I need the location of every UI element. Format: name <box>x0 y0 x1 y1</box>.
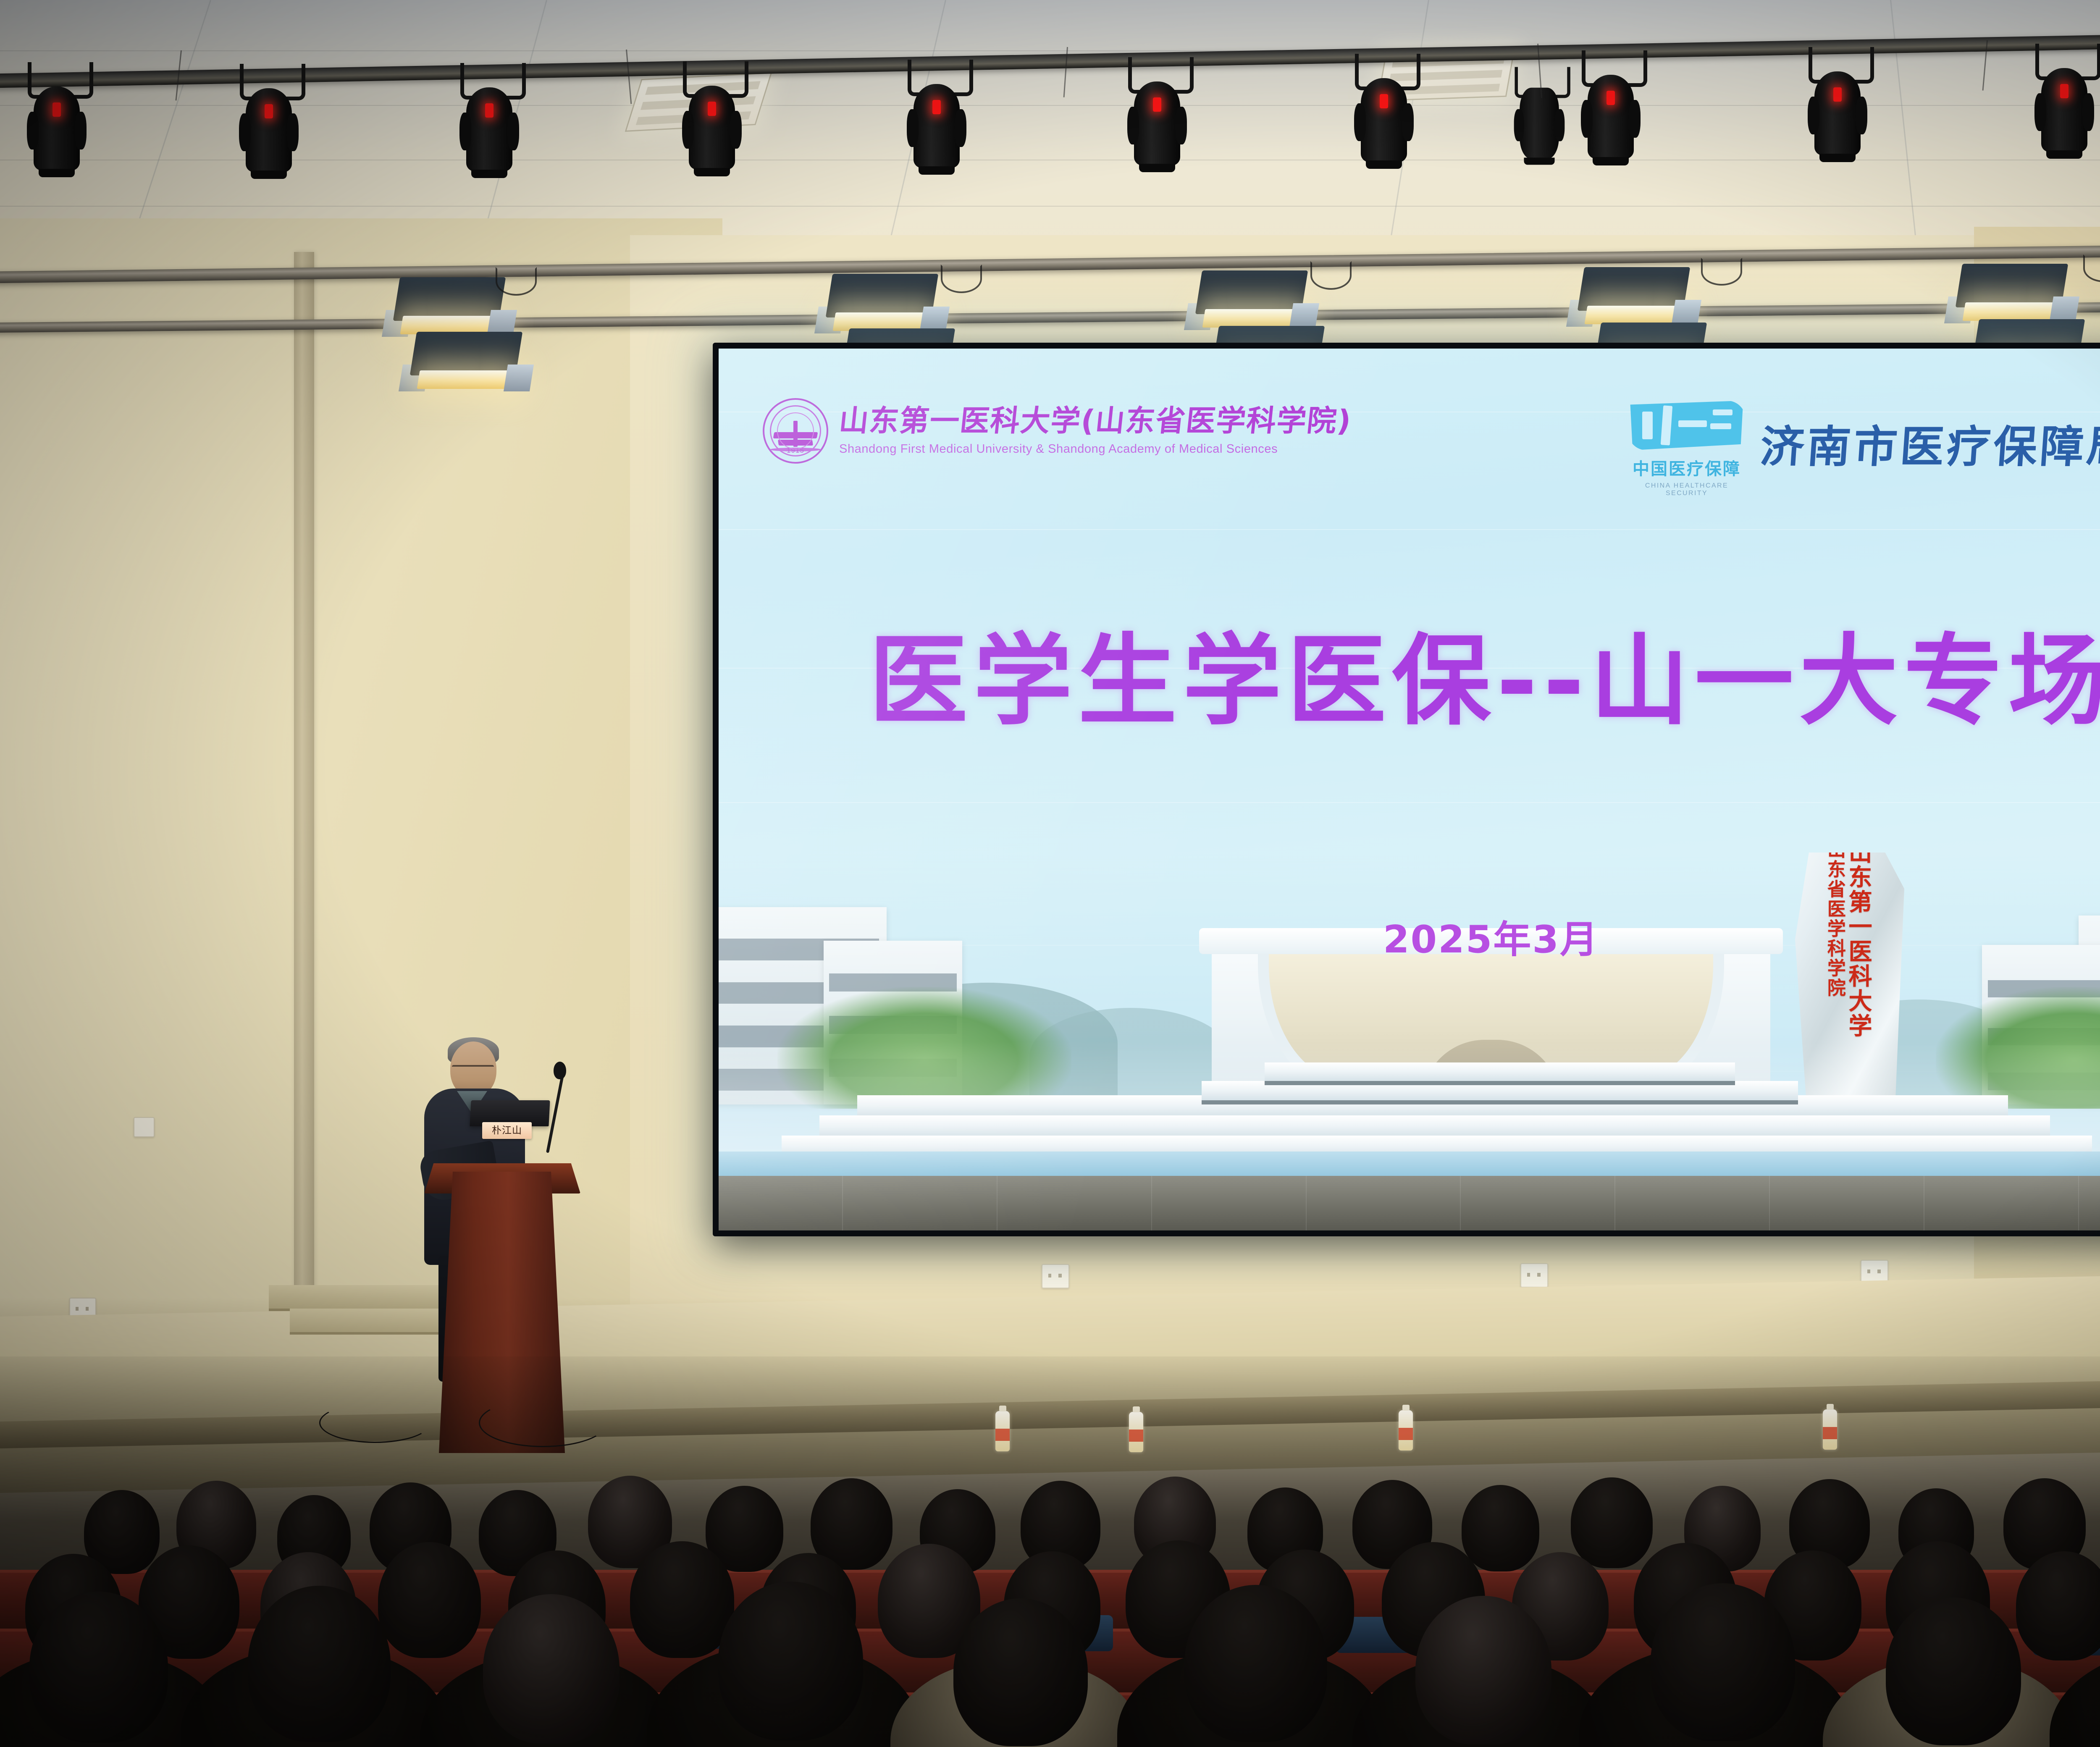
chs-logo-icon: 中国医疗保障 CHINA HEALTHCARE SECURITY <box>1628 401 1746 485</box>
crest-year: 1915 <box>764 446 827 455</box>
audience-head <box>953 1598 1088 1746</box>
par-can-stage-light <box>1579 50 1642 160</box>
speaker-glasses-icon <box>452 1065 494 1074</box>
par-can-stage-light <box>1806 47 1869 156</box>
audience-head <box>1651 1583 1795 1741</box>
par-can-stage-light <box>905 60 968 169</box>
fresnel-stage-light <box>1189 270 1315 333</box>
podium-nameplate-text: 朴江山 <box>482 1122 532 1139</box>
slide-date: 2025年3月 <box>719 909 2100 963</box>
audience-head <box>718 1582 863 1740</box>
audience-head <box>630 1541 734 1658</box>
wall-plate-corner <box>134 1117 155 1137</box>
water-bottle <box>1399 1410 1413 1451</box>
fresnel-stage-light <box>403 332 529 395</box>
wall-left <box>0 218 722 1436</box>
chs-logo-text-cn: 中国医疗保障 <box>1628 455 1746 480</box>
fresnel-stage-light <box>386 277 512 340</box>
water-bottle <box>1129 1412 1143 1452</box>
par-can-stage-light <box>2033 44 2096 153</box>
water-bottle <box>995 1411 1010 1451</box>
par-can-stage-light <box>1126 57 1189 166</box>
par-can-stage-light <box>1352 54 1415 163</box>
audience-head <box>483 1594 619 1744</box>
university-branding: 1915 山东第一医科大学(山东省医学科学院) Shandong First M… <box>763 398 1352 464</box>
gooseneck-microphone-head <box>554 1062 566 1079</box>
audience-head <box>1571 1477 1653 1568</box>
audience-head <box>1462 1485 1539 1571</box>
fresnel-stage-light <box>1949 264 2075 327</box>
university-crest-icon: 1915 <box>763 398 828 464</box>
bureau-branding: 中国医疗保障 CHINA HEALTHCARE SECURITY 济南市医疗保障… <box>1628 401 2100 485</box>
fresnel-stage-light <box>819 274 945 337</box>
slide-header: 1915 山东第一医科大学(山东省医学科学院) Shandong First M… <box>719 398 2100 486</box>
par-can-stage-light <box>237 64 300 173</box>
audience-area <box>0 1356 2100 1747</box>
wall-power-outlet <box>1042 1264 1069 1288</box>
audience-head <box>378 1542 481 1658</box>
audience-head <box>1415 1596 1551 1744</box>
slide-title: 医学生学医保--山一大专场 <box>719 601 2100 744</box>
university-name-cn: 山东第一医科大学(山东省医学科学院) <box>837 406 1353 435</box>
par-can-stage-light <box>25 62 88 171</box>
room-shell: 1915 山东第一医科大学(山东省医学科学院) Shandong First M… <box>0 0 2100 1747</box>
wall-pilaster-left <box>294 252 314 1386</box>
fresnel-stage-light <box>1571 267 1697 330</box>
audience-head <box>1184 1585 1327 1742</box>
auditorium-scene: 1915 山东第一医科大学(山东省医学科学院) Shandong First M… <box>0 0 2100 1747</box>
water-bottle <box>1823 1409 1837 1450</box>
audience-head <box>29 1592 168 1743</box>
wall-power-outlet <box>1520 1263 1548 1288</box>
par-can-stage-light <box>458 63 521 172</box>
podium-nameplate: 朴江山 <box>482 1122 532 1139</box>
led-display-screen: 1915 山东第一医科大学(山东省医学科学院) Shandong First M… <box>713 343 2100 1236</box>
chs-logo-text-en: CHINA HEALTHCARE SECURITY <box>1628 482 1746 497</box>
par-can-stage-light <box>680 61 743 171</box>
audience-head <box>248 1586 391 1742</box>
audience-head <box>1886 1597 2021 1745</box>
bureau-name-cn: 济南市医疗保障局 <box>1759 411 2100 475</box>
university-name-en: Shandong First Medical University & Shan… <box>839 442 1352 456</box>
presentation-slide: 1915 山东第一医科大学(山东省医学科学院) Shandong First M… <box>719 349 2100 1230</box>
moving-head-light <box>1512 67 1566 160</box>
